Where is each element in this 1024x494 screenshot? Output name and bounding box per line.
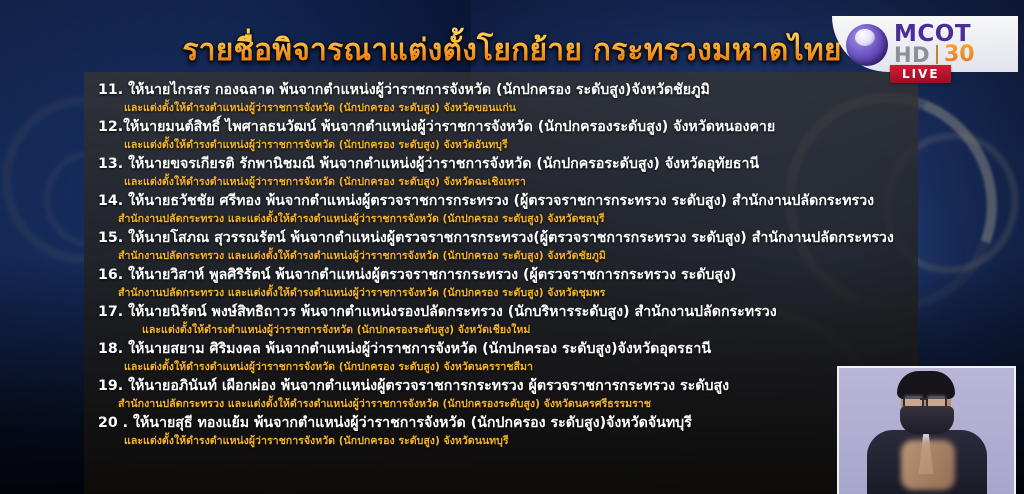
list-item: 14. ให้นายธวัชชัย ศรีทอง พ้นจากตำแหน่งผู… [98,191,908,227]
list-item-main: 19. ให้นายอภินันท์ เผือกผ่อง พ้นจากตำแหน… [98,376,908,396]
sign-language-interpreter-inset [837,366,1016,494]
list-item: 15. ให้นายโสภณ สุวรรณรัตน์ พ้นจากตำแหน่ง… [98,228,908,264]
list-item-main: 12.ให้นายมนต์สิทธิ์ ไพศาลธนวัฒน์ พ้นจากต… [98,117,908,137]
list-item-sub: และแต่งตั้งให้ดำรงตำแหน่งผู้ว่าราชการจัง… [98,359,908,375]
list-item-main: 14. ให้นายธวัชชัย ศรีทอง พ้นจากตำแหน่งผู… [98,191,908,211]
list-item-main: 11. ให้นายไกรสร กองฉลาด พ้นจากตำแหน่งผู้… [98,80,908,100]
list-item: 19. ให้นายอภินันท์ เผือกผ่อง พ้นจากตำแหน… [98,376,908,412]
list-item-sub: และแต่งตั้งให้ดำรงตำแหน่งผู้ว่าราชการจัง… [98,322,908,338]
headline-title: รายชื่อพิจารณาแต่งตั้งโยกย้าย กระทรวงมหา… [182,27,841,74]
list-item-sub: สำนักงานปลัดกระทรวง และแต่งตั้งให้ดำรงตำ… [98,248,908,264]
list-item: 13. ให้นายขจรเกียรติ รักพานิชมณี พ้นจากต… [98,154,908,190]
list-item-sub: และแต่งตั้งให้ดำรงตำแหน่งผู้ว่าราชการจัง… [98,174,908,190]
list-item-sub: สำนักงานปลัดกระทรวง และแต่งตั้งให้ดำรงตำ… [98,285,908,301]
logo-channel-number: 30 [944,42,975,67]
list-item-sub: สำนักงานปลัดกระทรวง และแต่งตั้งให้ดำรงตำ… [98,396,908,412]
list-item: 18. ให้นายสยาม ศิริมงคล พ้นจากตำแหน่งผู้… [98,339,908,375]
list-item: 11. ให้นายไกรสร กองฉลาด พ้นจากตำแหน่งผู้… [98,80,908,116]
list-item-main: 15. ให้นายโสภณ สุวรรณรัตน์ พ้นจากตำแหน่ง… [98,228,908,248]
logo-quality-label: HD [894,43,930,67]
interpreter-face-mask [900,406,954,434]
broadcast-screen: รายชื่อพิจารณาแต่งตั้งโยกย้าย กระทรวงมหา… [0,0,1024,494]
content-panel: 11. ให้นายไกรสร กองฉลาด พ้นจากตำแหน่งผู้… [84,72,918,494]
list-item-sub: และแต่งตั้งให้ดำรงตำแหน่งผู้ว่าราชการจัง… [98,137,908,153]
list-item-sub: สำนักงานปลัดกระทรวง และแต่งตั้งให้ดำรงตำ… [98,211,908,227]
list-item: 12.ให้นายมนต์สิทธิ์ ไพศาลธนวัฒน์ พ้นจากต… [98,117,908,153]
channel-logo: MCOT HD 30 LIVE [832,16,1018,84]
list-item: 20 . ให้นายสุธี ทองแย้ม พ้นจากตำแหน่งผู้… [98,413,908,449]
list-item-main: 16. ให้นายวิสาห์ พูลศิริรัตน์ พ้นจากตำแห… [98,265,908,285]
list-item-main: 20 . ให้นายสุธี ทองแย้ม พ้นจากตำแหน่งผู้… [98,413,908,433]
list-item-sub: และแต่งตั้งให้ดำรงตำแหน่งผู้ว่าราชการจัง… [98,433,908,449]
list-item: 16. ให้นายวิสาห์ พูลศิริรัตน์ พ้นจากตำแห… [98,265,908,301]
interpreter-glasses-bridge [920,398,926,400]
list-item-main: 17. ให้นายนิรัตน์ พงษ์สิทธิถาวร พ้นจากตำ… [98,302,908,322]
logo-divider [936,45,938,64]
interpreter-hands [901,440,955,490]
appointment-list: 11. ให้นายไกรสร กองฉลาด พ้นจากตำแหน่งผู้… [98,80,908,449]
live-badge: LIVE [890,65,951,83]
list-item: 17. ให้นายนิรัตน์ พงษ์สิทธิถาวร พ้นจากตำ… [98,302,908,338]
mcot-orb-icon [846,24,888,66]
list-item-main: 18. ให้นายสยาม ศิริมงคล พ้นจากตำแหน่งผู้… [98,339,908,359]
list-item-sub: และแต่งตั้งให้ดำรงตำแหน่งผู้ว่าราชการจัง… [98,100,908,116]
list-item-main: 13. ให้นายขจรเกียรติ รักพานิชมณี พ้นจากต… [98,154,908,174]
